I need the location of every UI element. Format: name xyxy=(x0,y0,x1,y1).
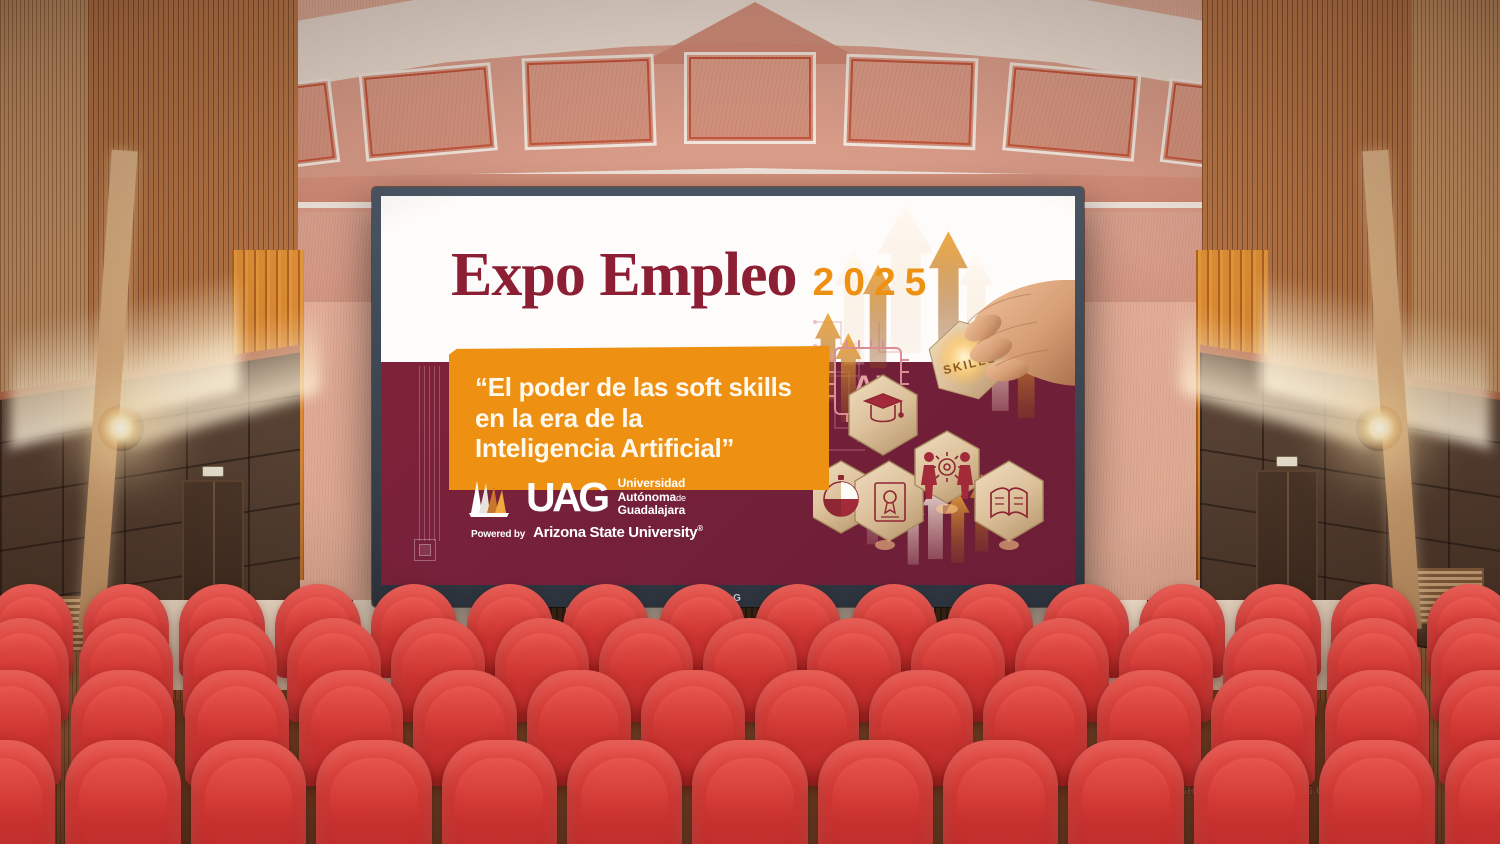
asu-wordmark: Arizona State University® xyxy=(533,524,703,541)
ceiling-coffer xyxy=(1002,62,1141,161)
theater-seat xyxy=(1194,740,1309,844)
theater-seat xyxy=(0,740,55,844)
quote-line: Inteligencia Artificial” xyxy=(475,433,805,464)
theater-seat xyxy=(1445,740,1500,844)
powered-by-label: Powered by xyxy=(471,529,525,540)
theater-seat xyxy=(567,740,682,844)
theater-seat xyxy=(692,740,807,844)
slide-quote-box: “El poder de las soft skills en la era d… xyxy=(449,346,829,490)
wall-sconce-light-left xyxy=(98,405,144,451)
theater-seat xyxy=(65,740,180,844)
exit-sign-left xyxy=(202,466,224,477)
presentation-slide: AI SKILLS xyxy=(381,196,1075,585)
theater-seat xyxy=(1319,740,1434,844)
ceiling-coffer xyxy=(684,52,816,144)
uag-book-fan-icon xyxy=(469,477,515,517)
uag-name-line-2: Autónoma xyxy=(618,490,677,504)
uag-name-line-2-suffix: de xyxy=(676,493,686,503)
ceiling-coffer xyxy=(359,62,498,161)
uag-logo-lockup: UAG Universidad Autónomade Guadalajara P… xyxy=(469,477,703,541)
theater-seat xyxy=(442,740,557,844)
slide-title-year: 2025 xyxy=(813,263,936,302)
lg-display-screen[interactable]: AI SKILLS xyxy=(372,187,1084,607)
auditorium-scene: AI SKILLS xyxy=(0,0,1500,844)
slide-title: Expo Empleo 2025 xyxy=(451,244,935,306)
ceiling-coffer-row xyxy=(200,52,1300,172)
exit-sign-right xyxy=(1276,456,1298,467)
uag-name-line-3: Guadalajara xyxy=(618,503,686,517)
uag-name-line-1: Universidad xyxy=(618,476,686,490)
quote-line: en la era de la xyxy=(475,403,805,434)
asu-brand-text: Arizona State University xyxy=(533,524,697,541)
theater-seat xyxy=(191,740,306,844)
ceiling-coffer xyxy=(844,54,979,151)
uag-university-name: Universidad Autónomade Guadalajara xyxy=(618,477,686,518)
slide-title-main: Expo Empleo xyxy=(451,244,797,306)
seat-row xyxy=(0,740,1500,844)
audience-seating xyxy=(0,584,1500,844)
asu-registered-mark: ® xyxy=(697,524,703,533)
theater-seat xyxy=(1068,740,1183,844)
theater-seat xyxy=(818,740,933,844)
theater-seat xyxy=(943,740,1058,844)
theater-seat xyxy=(316,740,431,844)
decorative-square xyxy=(414,539,436,561)
decorative-vertical-lines xyxy=(419,366,441,541)
wall-sconce-light-right xyxy=(1356,405,1402,451)
ceiling-coffer xyxy=(521,54,656,151)
skills-hexagon-cluster xyxy=(813,357,1075,567)
uag-wordmark: UAG xyxy=(526,477,607,518)
quote-line: “El poder de las soft skills xyxy=(475,372,805,403)
powered-by-lockup: Powered by Arizona State University® xyxy=(469,524,703,541)
